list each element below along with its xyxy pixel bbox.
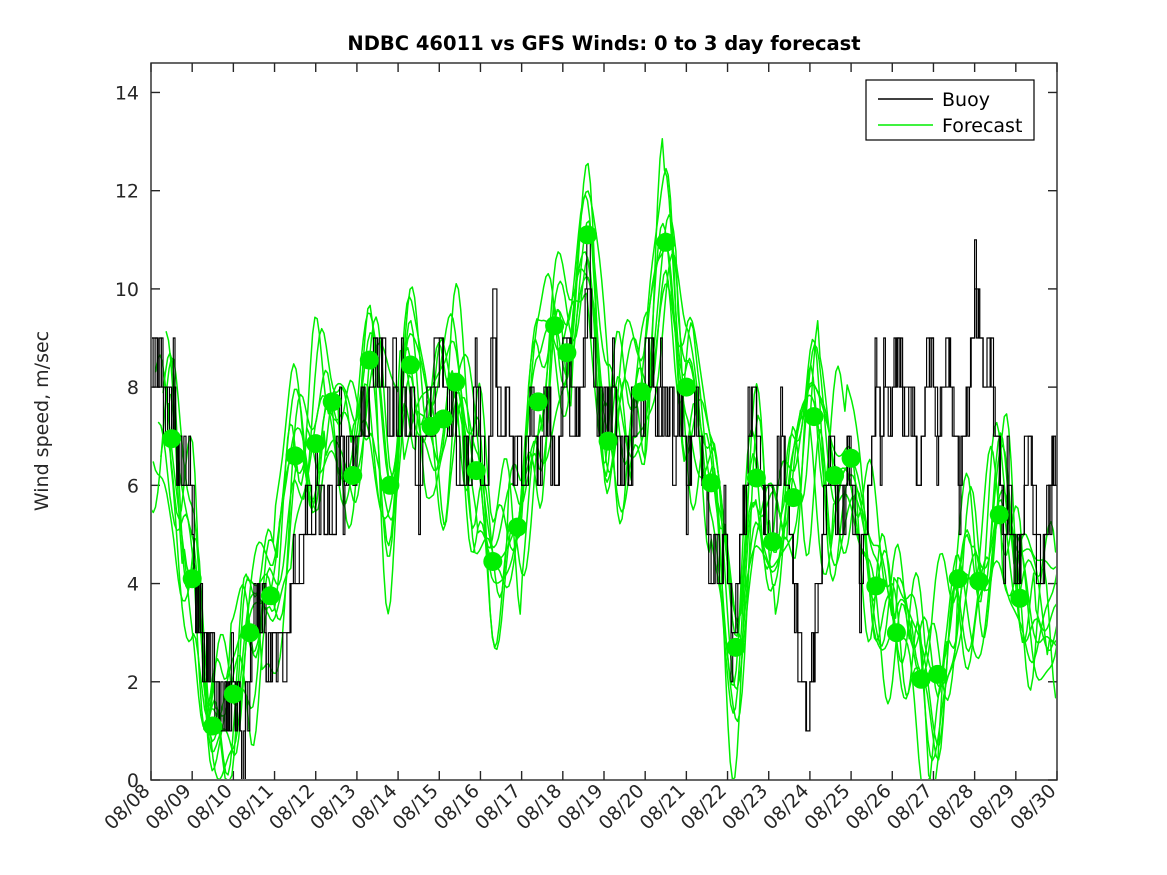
forecast-marker (677, 378, 696, 397)
forecast-trace (171, 243, 1057, 780)
figure-container: NDBC 46011 vs GFS Winds: 0 to 3 day fore… (0, 0, 1167, 875)
forecast-marker (286, 446, 305, 465)
forecast-marker (912, 670, 931, 689)
forecast-marker (529, 392, 548, 411)
forecast-marker (578, 225, 597, 244)
y-tick-label: 2 (127, 672, 139, 694)
x-tick-label: 08/18 (512, 780, 566, 834)
y-tick-label: 4 (127, 574, 139, 596)
x-tick-label: 08/27 (883, 780, 937, 834)
forecast-marker (343, 466, 362, 485)
x-tick-label: 08/09 (141, 780, 195, 834)
forecast-marker (632, 383, 651, 402)
forecast-marker (508, 518, 527, 537)
y-tick-label: 8 (127, 377, 139, 399)
forecast-marker (747, 469, 766, 488)
y-tick-label: 12 (115, 181, 139, 203)
x-tick-label: 08/25 (800, 780, 854, 834)
forecast-marker (183, 569, 202, 588)
forecast-marker (240, 623, 259, 642)
legend-label-buoy: Buoy (942, 89, 990, 111)
x-tick-label: 08/30 (1006, 780, 1060, 834)
x-tick-label: 08/19 (553, 780, 607, 834)
forecast-marker (702, 473, 721, 492)
forecast-marker (866, 577, 885, 596)
x-tick-label: 08/15 (389, 780, 443, 834)
forecast-marker (380, 476, 399, 495)
y-tick-label: 10 (115, 279, 139, 301)
forecast-trace (163, 221, 1056, 780)
forecast-marker (825, 466, 844, 485)
forecast-marker (401, 356, 420, 375)
forecast-marker (784, 488, 803, 507)
forecast-marker (261, 586, 280, 605)
x-tick-label: 08/12 (265, 780, 319, 834)
forecast-marker (1010, 589, 1029, 608)
wind-speed-chart: NDBC 46011 vs GFS Winds: 0 to 3 day fore… (0, 0, 1167, 875)
x-tick-label: 08/13 (306, 780, 360, 834)
x-tick-label: 08/20 (594, 780, 648, 834)
y-tick-label: 14 (115, 82, 139, 104)
forecast-marker (467, 461, 486, 480)
forecast-marker (969, 572, 988, 591)
y-tick-label: 6 (127, 475, 139, 497)
x-tick-label: 08/21 (636, 780, 690, 834)
chart-title: NDBC 46011 vs GFS Winds: 0 to 3 day fore… (347, 32, 860, 55)
forecast-marker (483, 552, 502, 571)
x-tick-label: 08/26 (842, 780, 896, 834)
forecast-marker (599, 432, 618, 451)
x-tick-label: 08/28 (924, 780, 978, 834)
forecast-marker (306, 434, 325, 453)
x-tick-label: 08/24 (759, 780, 813, 834)
forecast-marker (162, 429, 181, 448)
legend-label-forecast: Forecast (942, 115, 1022, 137)
forecast-marker (360, 351, 379, 370)
forecast-marker (434, 410, 453, 429)
forecast-marker (557, 343, 576, 362)
forecast-marker (887, 623, 906, 642)
forecast-marker (842, 449, 861, 468)
forecast-marker (805, 407, 824, 426)
forecast-marker (726, 638, 745, 657)
forecast-trace (156, 277, 1058, 775)
x-tick-label: 08/22 (677, 780, 731, 834)
forecast-marker (545, 316, 564, 335)
forecast-marker (990, 505, 1009, 524)
chart-legend[interactable]: Buoy Forecast (866, 80, 1034, 140)
forecast-marker (224, 685, 243, 704)
forecast-marker (203, 717, 222, 736)
forecast-marker (949, 569, 968, 588)
forecast-marker (763, 532, 782, 551)
x-tick-label: 08/29 (965, 780, 1019, 834)
x-tick-label: 08/23 (718, 780, 772, 834)
forecast-marker (928, 665, 947, 684)
forecast-marker (446, 373, 465, 392)
y-axis-label: Wind speed, m/sec (31, 331, 53, 511)
x-tick-label: 08/11 (224, 780, 278, 834)
x-tick-label: 08/10 (183, 780, 237, 834)
buoy-series (151, 240, 1057, 780)
x-tick-label: 08/16 (430, 780, 484, 834)
forecast-marker (656, 233, 675, 252)
x-tick-label: 08/17 (471, 780, 525, 834)
x-tick-label: 08/14 (347, 780, 401, 834)
forecast-marker (323, 392, 342, 411)
